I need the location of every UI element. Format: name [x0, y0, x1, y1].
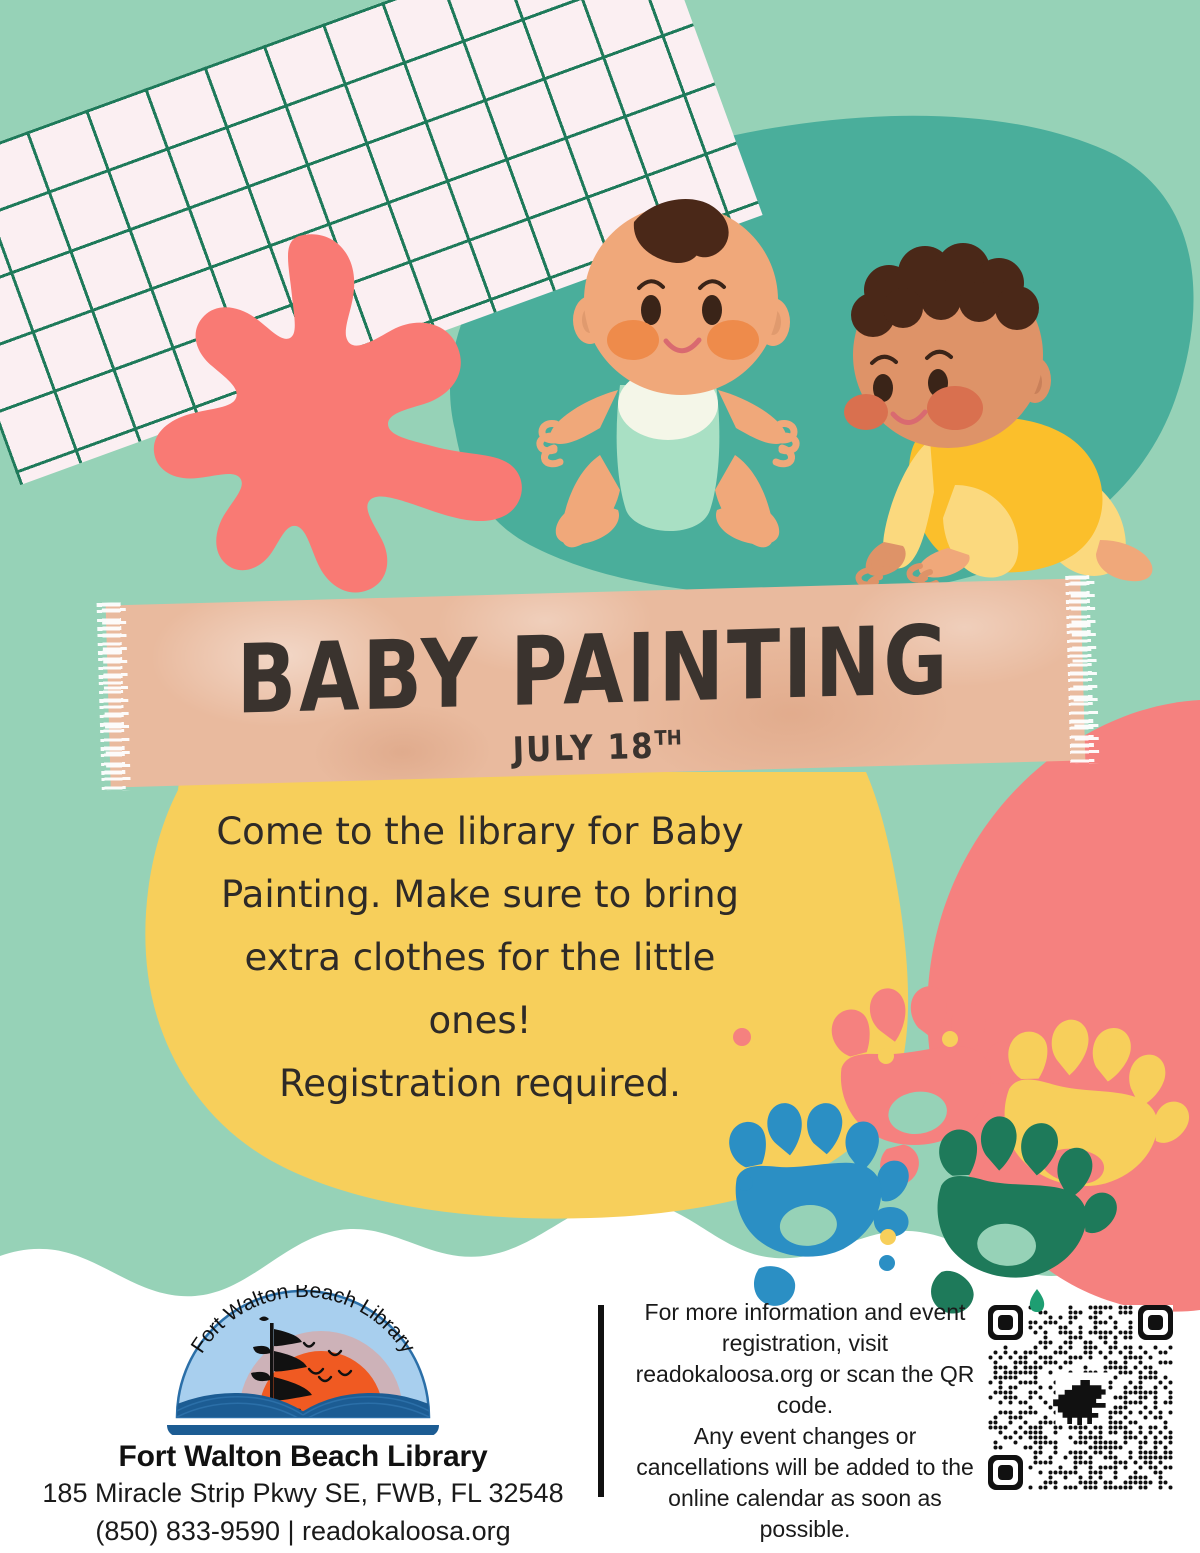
paint-dot — [1107, 1039, 1123, 1055]
description-line: Registration required. — [150, 1052, 810, 1115]
paint-dot — [879, 1255, 895, 1271]
footer: Fort Walton Beach Library Fort Walton Be… — [0, 1285, 1200, 1553]
library-logo-block: Fort Walton Beach Library Fort Walton Be… — [38, 1285, 568, 1550]
paint-dot — [737, 1175, 753, 1191]
description-line: extra clothes for the little — [150, 926, 810, 989]
info-line: Any event changes or — [625, 1421, 985, 1452]
info-line: code. — [625, 1390, 985, 1421]
leaf-icon — [1026, 1289, 1048, 1315]
flyer-canvas: BABY PAINTING JULY 18TH Come to the libr… — [0, 0, 1200, 1553]
title-banner: BABY PAINTING JULY 18TH — [106, 578, 1086, 787]
info-line: registration, visit — [625, 1328, 985, 1359]
event-date-text: JULY 18 — [512, 726, 655, 770]
event-date-suffix: TH — [654, 726, 682, 750]
paint-dot — [880, 1229, 896, 1245]
library-contact: (850) 833-9590 | readokaloosa.org — [38, 1512, 568, 1550]
footer-divider — [598, 1305, 604, 1497]
paint-dot — [942, 1031, 958, 1047]
description-line: Painting. Make sure to bring — [150, 863, 810, 926]
handprint-yellow — [995, 1013, 1198, 1196]
qr-code-block[interactable] — [988, 1305, 1173, 1490]
registration-info: For more information and event registrat… — [625, 1297, 985, 1545]
description-line: Come to the library for Baby — [150, 800, 810, 863]
info-line: cancellations will be added to the — [625, 1452, 985, 1483]
info-line: possible. — [625, 1514, 985, 1545]
library-address: 185 Miracle Strip Pkwy SE, FWB, FL 32548 — [38, 1474, 568, 1512]
paint-dot — [878, 1048, 894, 1064]
event-description: Come to the library for Baby Painting. M… — [150, 800, 810, 1115]
info-line: For more information and event — [625, 1297, 985, 1328]
qr-code-icon[interactable] — [988, 1305, 1173, 1490]
library-name: Fort Walton Beach Library — [38, 1440, 568, 1474]
info-line: online calendar as soon as — [625, 1483, 985, 1514]
library-logo: Fort Walton Beach Library — [153, 1285, 453, 1435]
info-line: readokaloosa.org or scan the QR — [625, 1359, 985, 1390]
description-line: ones! — [150, 989, 810, 1052]
